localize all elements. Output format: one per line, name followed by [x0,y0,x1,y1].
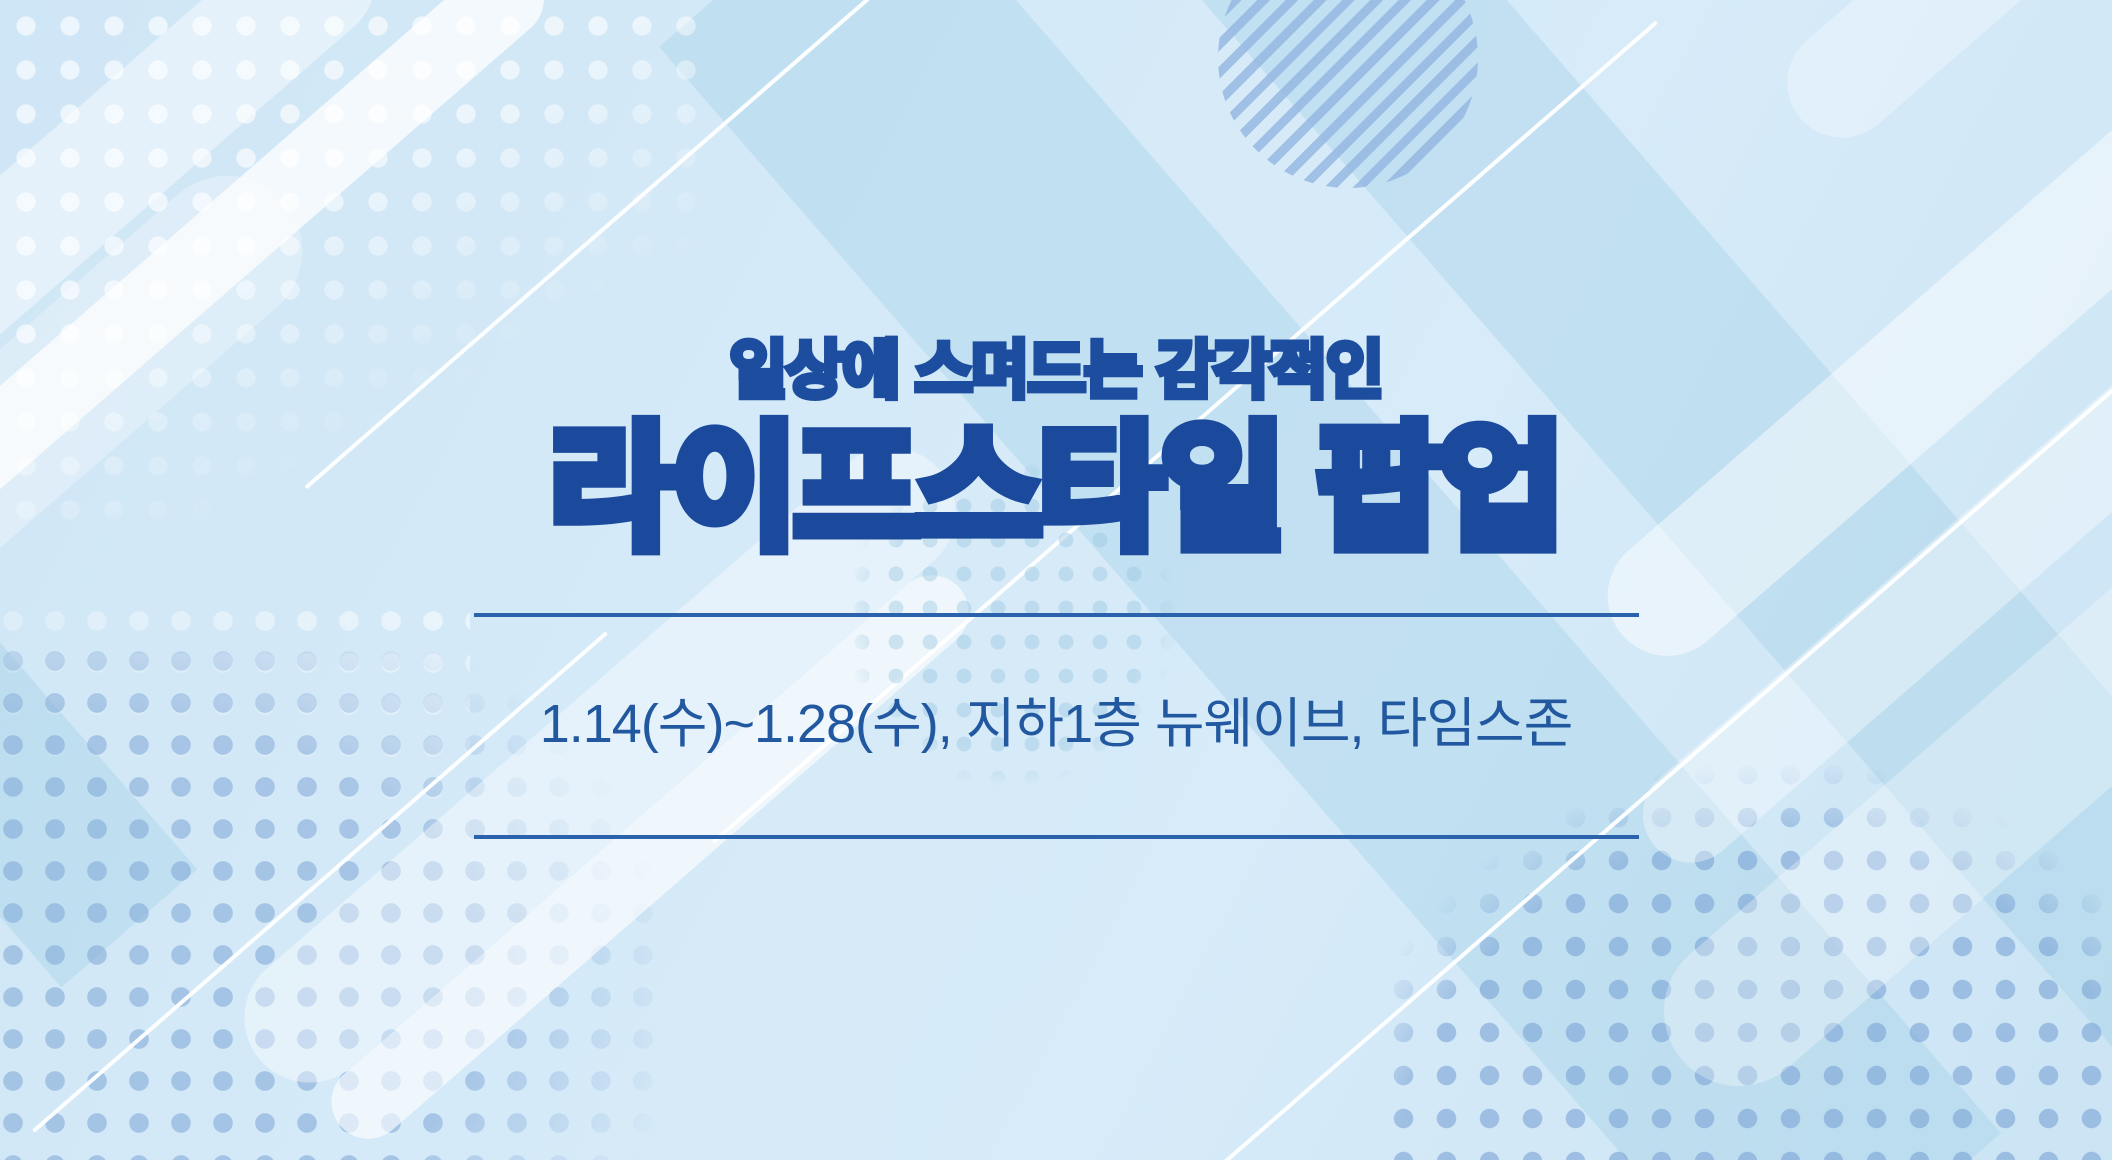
banner-headline: 라이프스타일 팝업 [550,421,1562,557]
meta-rule-bottom [474,835,1639,839]
banner-meta-block: 1.14(수)~1.28(수), 지하1층 뉴웨이브, 타임스존 [474,613,1639,839]
meta-rule-top [474,613,1639,617]
promo-banner: 일상에 스며드는 감각적인 라이프스타일 팝업 1.14(수)~1.28(수),… [0,0,2112,1160]
striped-circle-icon [1218,0,1478,188]
banner-eyebrow: 일상에 스며드는 감각적인 [729,340,1382,403]
banner-content: 일상에 스며드는 감각적인 라이프스타일 팝업 1.14(수)~1.28(수),… [0,340,2112,839]
banner-meta-text: 1.14(수)~1.28(수), 지하1층 뉴웨이브, 타임스존 [540,671,1573,781]
capsule-stripe-top-right [1765,0,2112,160]
